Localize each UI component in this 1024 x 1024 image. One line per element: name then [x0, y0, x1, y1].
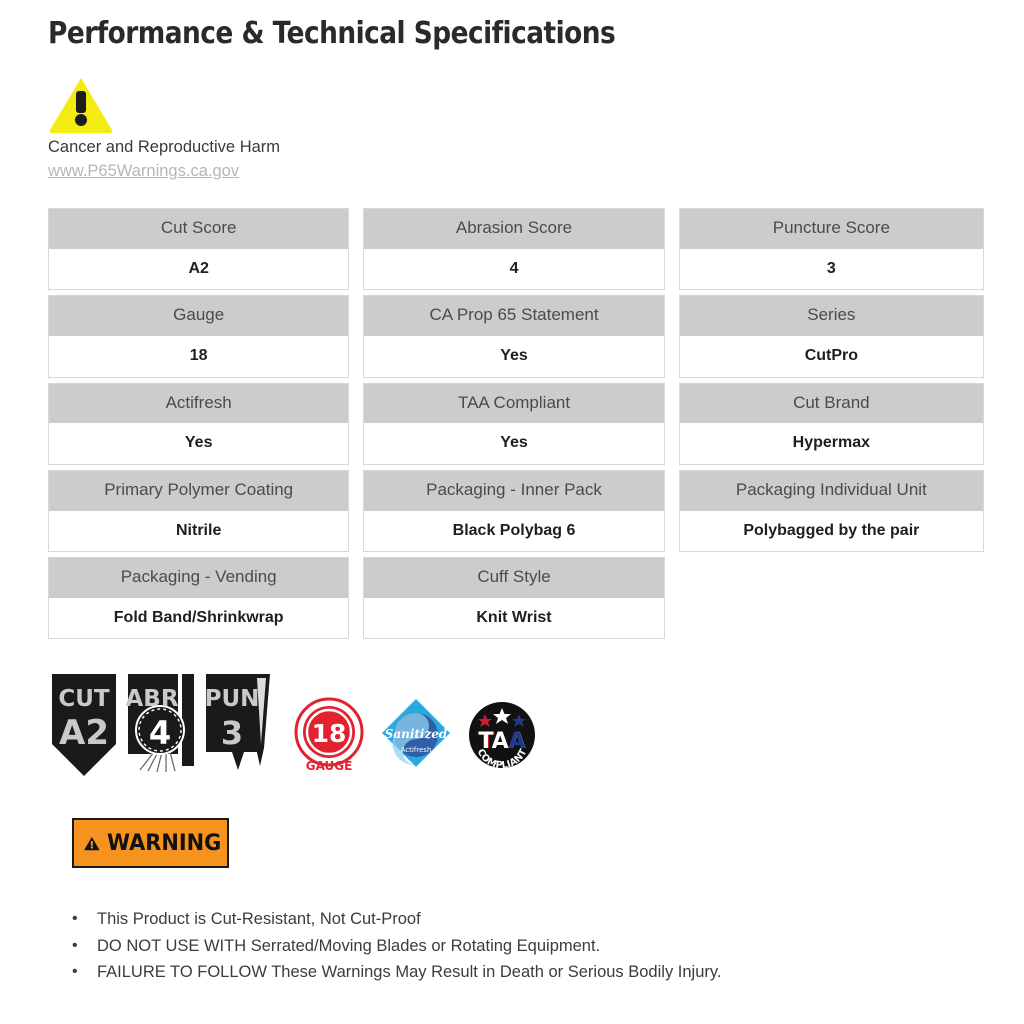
- spec-value: A2: [49, 249, 348, 290]
- spec-label: Puncture Score: [680, 209, 983, 249]
- spec-label: Abrasion Score: [364, 209, 663, 249]
- list-item: • DO NOT USE WITH Serrated/Moving Blades…: [72, 933, 932, 960]
- spec-row: Primary Polymer Coating Nitrile Packagin…: [48, 470, 984, 552]
- spec-value: Black Polybag 6: [364, 511, 663, 552]
- cut-level-badge-icon: CUT A2: [48, 672, 120, 780]
- prop65-text: Cancer and Reproductive Harm: [48, 136, 468, 160]
- abrasion-level-badge-icon: ABR 4: [126, 672, 198, 780]
- spec-label: Packaging - Inner Pack: [364, 471, 663, 511]
- gauge-badge-label: GAUGE: [306, 759, 353, 773]
- list-item: • This Product is Cut-Resistant, Not Cut…: [72, 906, 932, 933]
- prop65-warning: Cancer and Reproductive Harm www.P65Warn…: [48, 76, 468, 184]
- spec-row: Actifresh Yes TAA Compliant Yes Cut Bran…: [48, 383, 984, 465]
- spec-card-cut-score: Cut Score A2: [48, 208, 349, 290]
- sanitized-badge-main: Sanitized: [385, 727, 448, 741]
- spec-label: Series: [680, 296, 983, 336]
- warning-banner: WARNING: [72, 818, 229, 868]
- spec-row: Gauge 18 CA Prop 65 Statement Yes Series…: [48, 295, 984, 377]
- spec-label: Cuff Style: [364, 558, 663, 598]
- spec-value: Yes: [364, 336, 663, 377]
- spec-card-abrasion-score: Abrasion Score 4: [363, 208, 664, 290]
- spec-value: 3: [680, 249, 983, 290]
- spec-label: TAA Compliant: [364, 384, 663, 424]
- warning-triangle-icon: [48, 76, 114, 134]
- warning-banner-label: WARNING: [107, 831, 221, 856]
- page-title: Performance & Technical Specifications: [48, 16, 615, 51]
- spec-card-packaging-vending: Packaging - Vending Fold Band/Shrinkwrap: [48, 557, 349, 639]
- list-item: • FAILURE TO FOLLOW These Warnings May R…: [72, 959, 932, 986]
- sanitized-badge-sub: Actifresh: [401, 746, 432, 754]
- spec-card-series: Series CutPro: [679, 295, 984, 377]
- puncture-level-badge-icon: PUN 3: [204, 672, 276, 780]
- bullet-icon: •: [72, 906, 97, 932]
- cut-badge-top: CUT: [58, 686, 110, 712]
- spec-value: Knit Wrist: [364, 598, 663, 639]
- abrasion-badge-top: ABR: [126, 686, 179, 712]
- spec-value: Nitrile: [49, 511, 348, 552]
- spec-card-ca-prop-65-statement: CA Prop 65 Statement Yes: [363, 295, 664, 377]
- bullet-icon: •: [72, 959, 97, 985]
- cut-badge-main: A2: [59, 713, 109, 753]
- spec-label: Packaging Individual Unit: [680, 471, 983, 511]
- list-item-text: FAILURE TO FOLLOW These Warnings May Res…: [97, 959, 932, 986]
- sanitized-actifresh-badge-icon: Sanitized Actifresh: [380, 698, 452, 772]
- spec-row: Packaging - Vending Fold Band/Shrinkwrap…: [48, 557, 984, 639]
- warning-list: • This Product is Cut-Resistant, Not Cut…: [72, 906, 932, 986]
- spec-label: Primary Polymer Coating: [49, 471, 348, 511]
- spec-value: Fold Band/Shrinkwrap: [49, 598, 348, 639]
- certification-badge-row: CUT A2 ABR 4 PUN 3 18 GAUGE: [48, 672, 538, 780]
- spec-card-cuff-style: Cuff Style Knit Wrist: [363, 557, 664, 639]
- prop65-link[interactable]: www.P65Warnings.ca.gov: [48, 160, 239, 184]
- spec-value: Yes: [364, 423, 663, 464]
- spec-value: Yes: [49, 423, 348, 464]
- spec-card-primary-polymer-coating: Primary Polymer Coating Nitrile: [48, 470, 349, 552]
- spec-card-packaging-individual-unit: Packaging Individual Unit Polybagged by …: [679, 470, 984, 552]
- spec-label: Actifresh: [49, 384, 348, 424]
- spec-card-actifresh: Actifresh Yes: [48, 383, 349, 465]
- spec-card-cut-brand: Cut Brand Hypermax: [679, 383, 984, 465]
- bullet-icon: •: [72, 933, 97, 959]
- spec-label: CA Prop 65 Statement: [364, 296, 663, 336]
- spec-value: CutPro: [680, 336, 983, 377]
- spec-label: Packaging - Vending: [49, 558, 348, 598]
- spec-value: 18: [49, 336, 348, 377]
- spec-card-taa-compliant: TAA Compliant Yes: [363, 383, 664, 465]
- spec-label: Cut Brand: [680, 384, 983, 424]
- spec-card-puncture-score: Puncture Score 3: [679, 208, 984, 290]
- warning-triangle-icon: [84, 831, 100, 856]
- puncture-badge-top: PUN: [205, 686, 260, 712]
- spec-value: Polybagged by the pair: [680, 511, 983, 552]
- spec-value: Hypermax: [680, 423, 983, 464]
- spec-card-packaging-inner-pack: Packaging - Inner Pack Black Polybag 6: [363, 470, 664, 552]
- specification-grid: Cut Score A2 Abrasion Score 4 Puncture S…: [48, 208, 984, 644]
- spec-card-placeholder: [679, 557, 984, 639]
- list-item-text: This Product is Cut-Resistant, Not Cut-P…: [97, 906, 932, 933]
- list-item-text: DO NOT USE WITH Serrated/Moving Blades o…: [97, 933, 932, 960]
- spec-row: Cut Score A2 Abrasion Score 4 Puncture S…: [48, 208, 984, 290]
- spec-label: Gauge: [49, 296, 348, 336]
- puncture-badge-main: 3: [221, 714, 243, 752]
- spec-label: Cut Score: [49, 209, 348, 249]
- gauge-badge-number: 18: [312, 719, 347, 748]
- abrasion-badge-main: 4: [149, 714, 171, 752]
- taa-compliant-badge-icon: T TAA A COMPLIANT: [466, 698, 538, 772]
- spec-card-gauge: Gauge 18: [48, 295, 349, 377]
- gauge-badge-icon: 18 GAUGE: [292, 696, 366, 774]
- spec-value: 4: [364, 249, 663, 290]
